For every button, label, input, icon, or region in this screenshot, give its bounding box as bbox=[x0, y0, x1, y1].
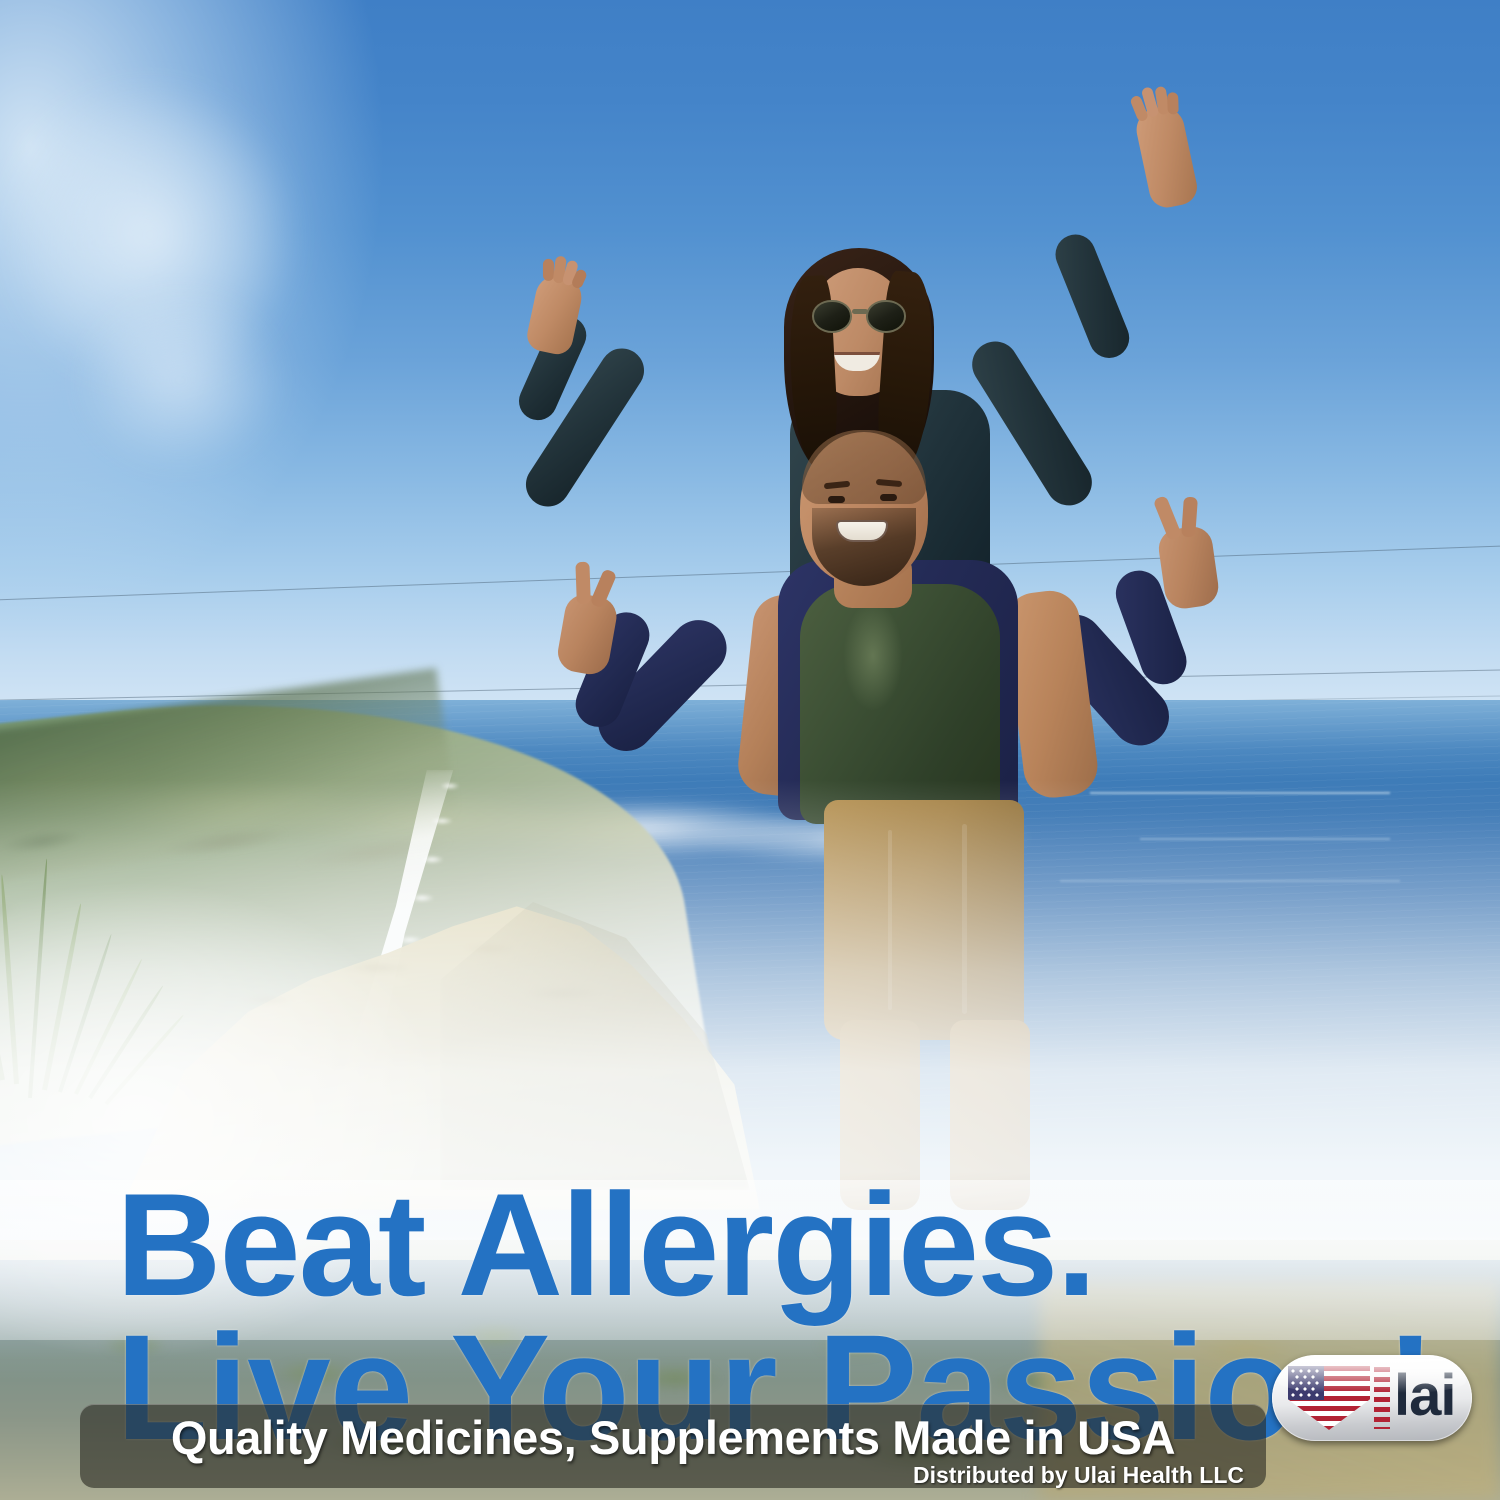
bottom-banner: Quality Medicines, Supplements Made in U… bbox=[80, 1404, 1266, 1488]
headline-line-1: Beat Allergies. bbox=[116, 1163, 1095, 1326]
ulai-logo: lai bbox=[1272, 1355, 1472, 1441]
flag-stars bbox=[1288, 1366, 1324, 1400]
ocean-streak bbox=[1060, 880, 1400, 882]
banner-distributor-text: Distributed by Ulai Health LLC bbox=[913, 1462, 1244, 1489]
ad-canvas: Beat Allergies. Live Your Passion! Quali… bbox=[0, 0, 1500, 1500]
ocean-streak bbox=[1140, 838, 1390, 840]
cirrus-cloud-secondary bbox=[30, 250, 330, 510]
logo-brand-text: lai bbox=[1394, 1363, 1456, 1429]
banner-main-text: Quality Medicines, Supplements Made in U… bbox=[80, 1410, 1266, 1465]
us-flag-icon bbox=[1288, 1366, 1370, 1430]
ocean-streak bbox=[1090, 792, 1390, 794]
logo-u-stem bbox=[1374, 1367, 1390, 1429]
